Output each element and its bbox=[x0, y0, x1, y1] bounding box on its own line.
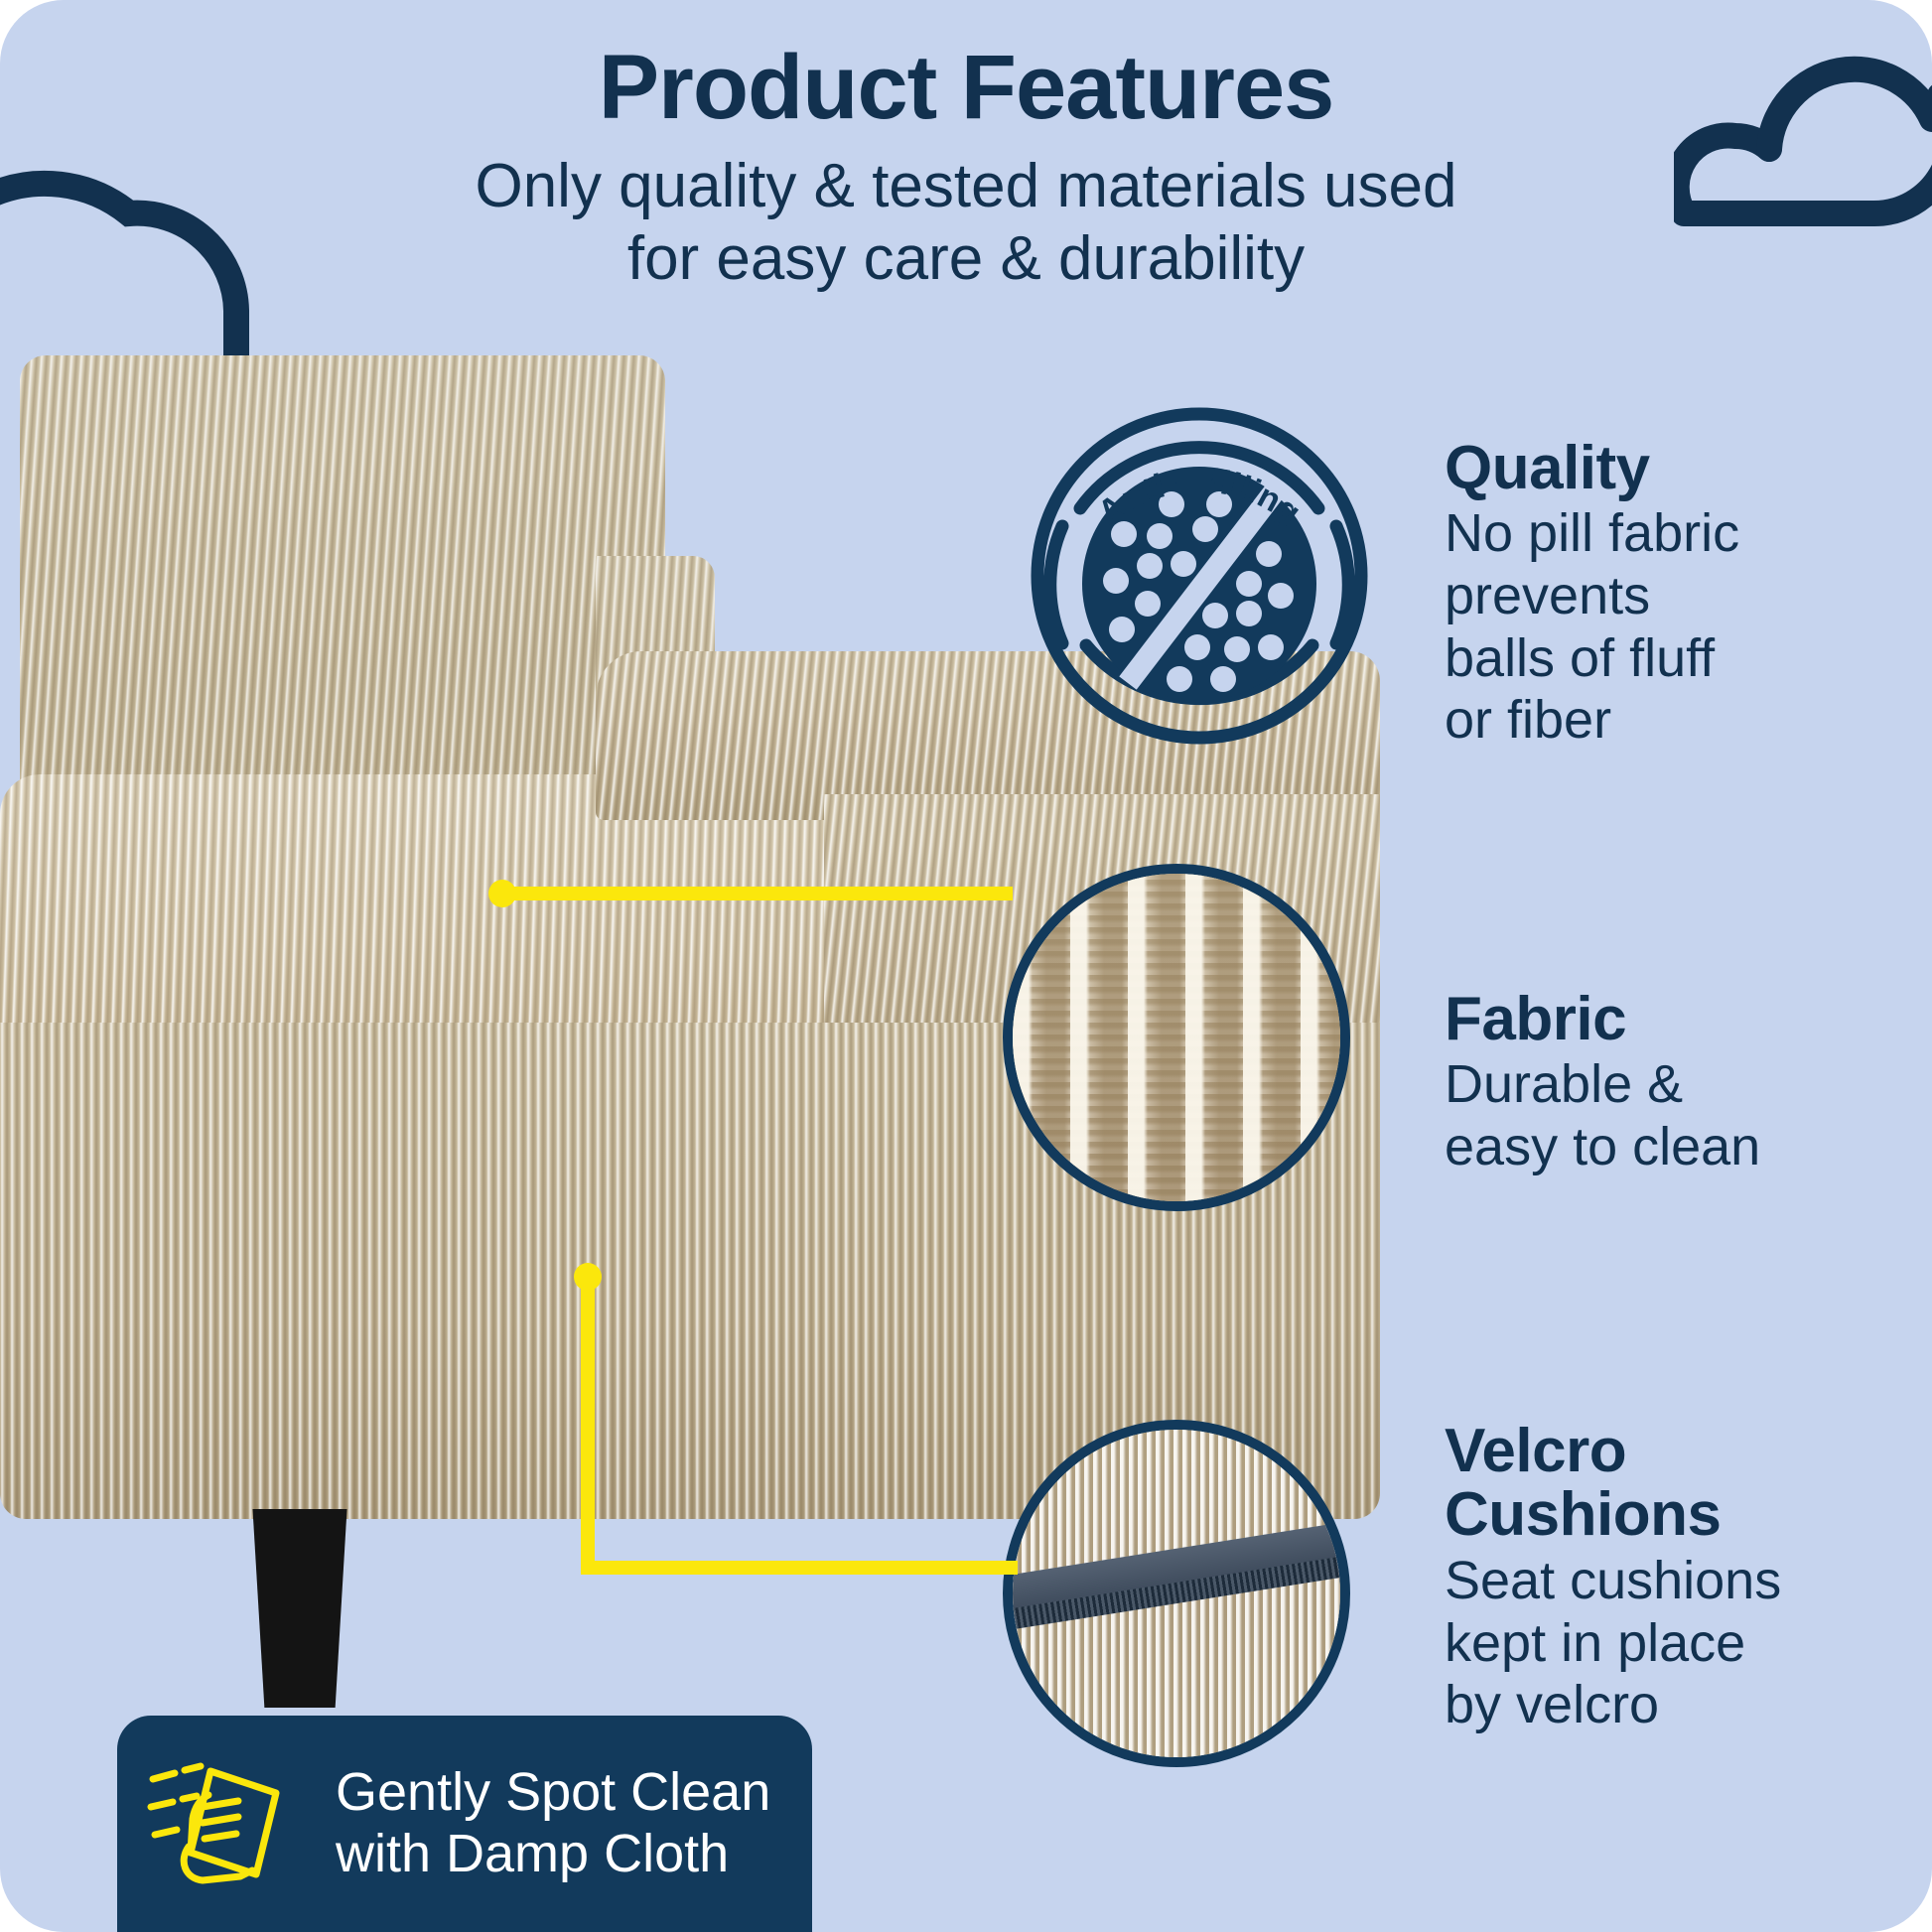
subtitle-line-2: for easy care & durability bbox=[0, 222, 1932, 295]
fabric-closeup-circle bbox=[1003, 864, 1350, 1211]
care-badge: Gently Spot Clean with Damp Cloth bbox=[117, 1716, 812, 1932]
feature-quality-line-4: or fiber bbox=[1445, 690, 1611, 750]
velcro-texture bbox=[1013, 1430, 1340, 1757]
page-subtitle: Only quality & tested materials used for… bbox=[0, 150, 1932, 295]
care-badge-text: Gently Spot Clean with Damp Cloth bbox=[336, 1762, 770, 1884]
fabric-texture bbox=[1013, 874, 1340, 1201]
feature-fabric: Fabric Durable & easy to clean bbox=[1445, 988, 1871, 1178]
velcro-callout-line-vertical bbox=[581, 1277, 595, 1575]
page-title: Product Features bbox=[0, 40, 1932, 136]
fabric-callout-line bbox=[501, 887, 1013, 900]
anti-pilling-badge-icon: Anti - Pilling bbox=[1021, 397, 1378, 755]
feature-velcro-line-3: by velcro bbox=[1445, 1675, 1659, 1734]
feature-quality-body: No pill fabric prevents balls of fluff o… bbox=[1445, 502, 1871, 752]
hand-wiping-cloth-icon bbox=[145, 1749, 314, 1898]
header: Product Features Only quality & tested m… bbox=[0, 40, 1932, 295]
care-badge-line-2: with Damp Cloth bbox=[336, 1824, 770, 1885]
feature-fabric-body: Durable & easy to clean bbox=[1445, 1053, 1871, 1177]
feature-velcro-title: Velcro Cushions bbox=[1445, 1420, 1871, 1548]
feature-velcro-title-line-2: Cushions bbox=[1445, 1480, 1721, 1549]
velcro-callout-line-horizontal bbox=[581, 1561, 1018, 1575]
feature-quality: Quality No pill fabric prevents balls of… bbox=[1445, 437, 1871, 752]
sofa-leg bbox=[246, 1509, 353, 1708]
feature-velcro-body: Seat cushions kept in place by velcro bbox=[1445, 1550, 1871, 1736]
feature-quality-line-3: balls of fluff bbox=[1445, 628, 1715, 688]
feature-fabric-title: Fabric bbox=[1445, 988, 1871, 1051]
feature-velcro-title-line-1: Velcro bbox=[1445, 1417, 1626, 1485]
feature-fabric-line-1: Durable & bbox=[1445, 1054, 1683, 1114]
care-badge-line-1: Gently Spot Clean bbox=[336, 1762, 770, 1824]
velcro-closeup-circle bbox=[1003, 1420, 1350, 1767]
feature-quality-line-2: prevents bbox=[1445, 566, 1650, 625]
subtitle-line-1: Only quality & tested materials used bbox=[0, 150, 1932, 222]
feature-fabric-line-2: easy to clean bbox=[1445, 1117, 1760, 1176]
feature-velcro-line-2: kept in place bbox=[1445, 1613, 1745, 1673]
feature-velcro: Velcro Cushions Seat cushions kept in pl… bbox=[1445, 1420, 1871, 1736]
infographic-card: Product Features Only quality & tested m… bbox=[0, 0, 1932, 1932]
feature-quality-line-1: No pill fabric bbox=[1445, 503, 1739, 563]
feature-quality-title: Quality bbox=[1445, 437, 1871, 500]
feature-velcro-line-1: Seat cushions bbox=[1445, 1551, 1781, 1610]
